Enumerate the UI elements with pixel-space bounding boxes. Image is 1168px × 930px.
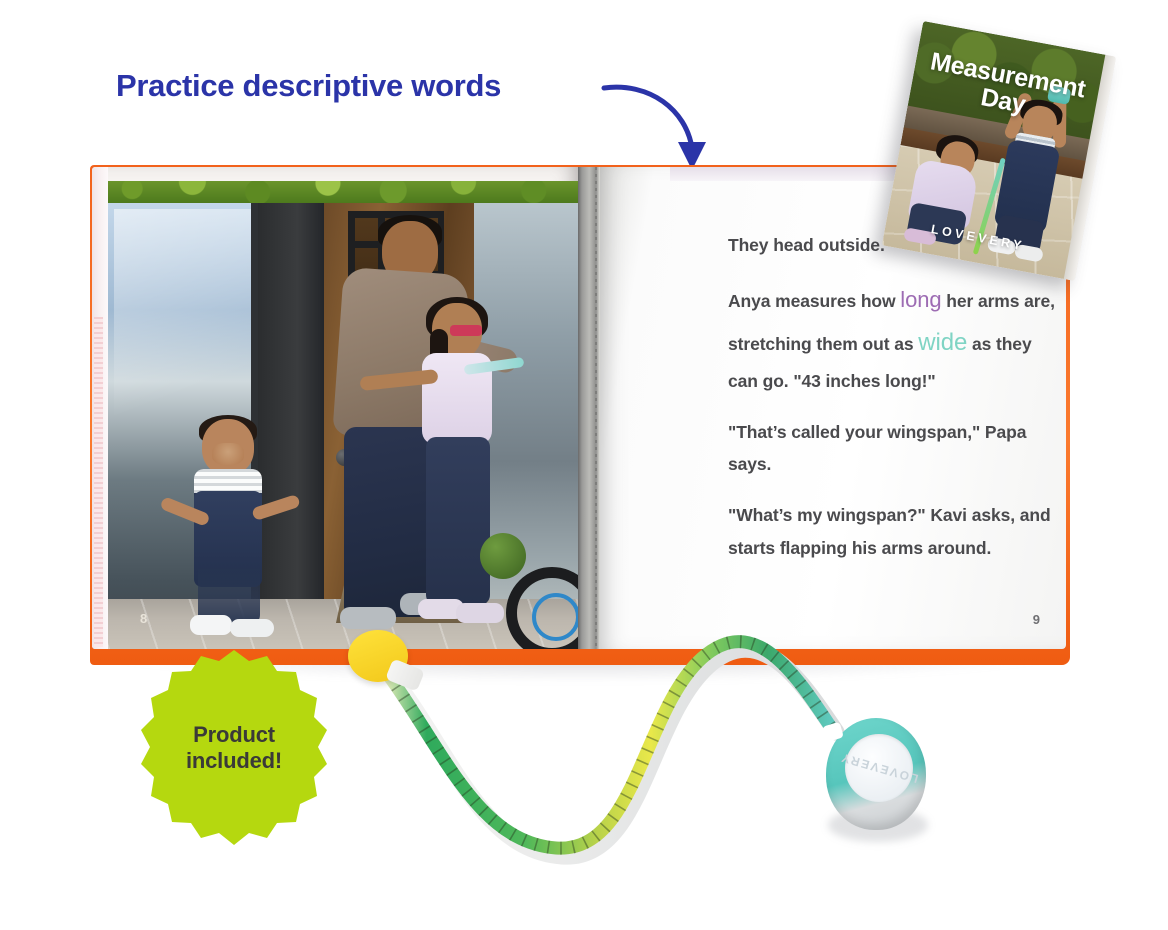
story-text-run: Anya measures how (728, 291, 900, 311)
book-gutter (578, 167, 600, 649)
right-page-number: 9 (1033, 612, 1040, 627)
greenery (108, 181, 578, 203)
promo-canvas: Practice descriptive words (0, 0, 1168, 930)
story-paragraph: Anya measures how long her arms are, str… (728, 280, 1058, 397)
highlight-word-wide: wide (918, 329, 967, 356)
starburst-shape (133, 648, 335, 848)
story-text: They head outside.Anya measures how long… (728, 229, 1058, 583)
toddler-figure (168, 419, 288, 635)
book-cover-thumbnail: Measurement Day LOVEVERY (882, 21, 1116, 281)
page-title: Practice descriptive words (116, 68, 501, 104)
story-paragraph: "What’s my wingspan?" Kavi asks, and sta… (728, 499, 1058, 563)
story-text-run: They head outside. (728, 235, 885, 255)
green-ball (480, 533, 526, 579)
product-included-badge: Product included! (133, 648, 335, 848)
toddler-right-shoe (230, 619, 274, 637)
story-text-run: "That’s called your wingspan," Papa says… (728, 422, 1026, 474)
page-edge-stack (92, 167, 108, 649)
toddler-face (212, 443, 244, 465)
book-left-page: 8 (92, 167, 578, 649)
highlight-word-long: long (900, 287, 941, 312)
tape-measure-product: LOVEVERY (330, 600, 970, 890)
girl-jeans (426, 437, 490, 605)
girl-figure (394, 303, 524, 643)
toddler-left-shoe (190, 615, 232, 635)
story-text-run: "What’s my wingspan?" Kavi asks, and sta… (728, 505, 1051, 557)
toddler-striped-shirt (194, 469, 262, 493)
girl-glasses-icon (450, 325, 482, 336)
story-paragraph: "That’s called your wingspan," Papa says… (728, 416, 1058, 480)
left-page-photo (108, 181, 578, 649)
tape-measure-case: LOVEVERY (826, 718, 930, 838)
left-page-number: 8 (140, 611, 147, 626)
